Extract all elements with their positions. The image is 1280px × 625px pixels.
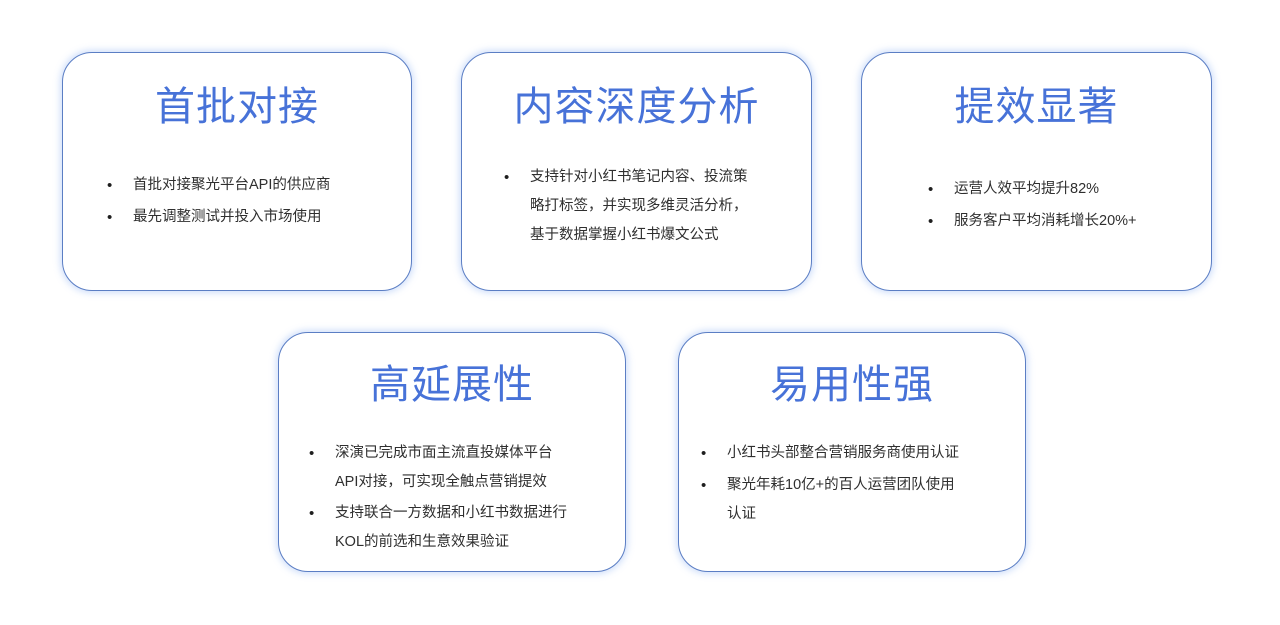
feature-card-first-integration[interactable]: 首批对接 • 首批对接聚光平台API的供应商 • 最先调整测试并投入市场使用 (62, 52, 412, 291)
bullet-text: 运营人效平均提升82% (954, 175, 1189, 204)
bullet-dot-icon: • (928, 207, 954, 237)
card-title: 提效显著 (955, 85, 1119, 129)
bullet-text: 小红书头部整合营销服务商使用认证 (727, 439, 1011, 468)
list-item: • 支持联合一方数据和小红书数据进行 KOL的前选和生意效果验证 (309, 499, 611, 557)
bullet-dot-icon: • (309, 499, 335, 529)
card-title: 首批对接 (155, 85, 319, 129)
card-bullet-list: • 首批对接聚光平台API的供应商 • 最先调整测试并投入市场使用 (85, 171, 389, 235)
bullet-text: 最先调整测试并投入市场使用 (133, 203, 389, 232)
bullet-text: 首批对接聚光平台API的供应商 (133, 171, 389, 200)
bullet-text: 深演已完成市面主流直投媒体平台 API对接，可实现全触点营销提效 (335, 439, 611, 497)
bullet-dot-icon: • (504, 163, 530, 193)
slide-canvas: 首批对接 • 首批对接聚光平台API的供应商 • 最先调整测试并投入市场使用 内… (0, 0, 1280, 625)
card-title: 内容深度分析 (514, 85, 760, 129)
list-item: • 支持针对小红书笔记内容、投流策 略打标签，并实现多维灵活分析， 基于数据掌握… (504, 163, 795, 250)
feature-card-significant-efficiency[interactable]: 提效显著 • 运营人效平均提升82% • 服务客户平均消耗增长20%+ (861, 52, 1212, 291)
bullet-dot-icon: • (107, 171, 133, 201)
list-item: • 小红书头部整合营销服务商使用认证 (701, 439, 1011, 469)
bullet-dot-icon: • (701, 471, 727, 501)
bullet-dot-icon: • (107, 203, 133, 233)
bullet-text: 支持联合一方数据和小红书数据进行 KOL的前选和生意效果验证 (335, 499, 611, 557)
card-title: 易用性强 (770, 363, 934, 407)
bullet-text: 聚光年耗10亿+的百人运营团队使用 认证 (727, 471, 1011, 529)
bullet-dot-icon: • (309, 439, 335, 469)
list-item: • 服务客户平均消耗增长20%+ (928, 207, 1189, 237)
bullet-text: 服务客户平均消耗增长20%+ (954, 207, 1189, 236)
list-item: • 最先调整测试并投入市场使用 (107, 203, 389, 233)
list-item: • 聚光年耗10亿+的百人运营团队使用 认证 (701, 471, 1011, 529)
card-bullet-list: • 深演已完成市面主流直投媒体平台 API对接，可实现全触点营销提效 • 支持联… (293, 439, 611, 559)
feature-card-ease-of-use[interactable]: 易用性强 • 小红书头部整合营销服务商使用认证 • 聚光年耗10亿+的百人运营团… (678, 332, 1026, 572)
bullet-dot-icon: • (701, 439, 727, 469)
list-item: • 深演已完成市面主流直投媒体平台 API对接，可实现全触点营销提效 (309, 439, 611, 497)
card-title: 高延展性 (370, 363, 534, 407)
bullet-text: 支持针对小红书笔记内容、投流策 略打标签，并实现多维灵活分析， 基于数据掌握小红… (530, 163, 795, 250)
card-bullet-list: • 运营人效平均提升82% • 服务客户平均消耗增长20%+ (884, 175, 1189, 239)
feature-card-content-depth-analysis[interactable]: 内容深度分析 • 支持针对小红书笔记内容、投流策 略打标签，并实现多维灵活分析，… (461, 52, 812, 291)
bullet-dot-icon: • (928, 175, 954, 205)
list-item: • 运营人效平均提升82% (928, 175, 1189, 205)
card-bullet-list: • 支持针对小红书笔记内容、投流策 略打标签，并实现多维灵活分析， 基于数据掌握… (478, 163, 795, 252)
card-bullet-list: • 小红书头部整合营销服务商使用认证 • 聚光年耗10亿+的百人运营团队使用 认… (693, 439, 1011, 531)
feature-card-high-extensibility[interactable]: 高延展性 • 深演已完成市面主流直投媒体平台 API对接，可实现全触点营销提效 … (278, 332, 626, 572)
list-item: • 首批对接聚光平台API的供应商 (107, 171, 389, 201)
